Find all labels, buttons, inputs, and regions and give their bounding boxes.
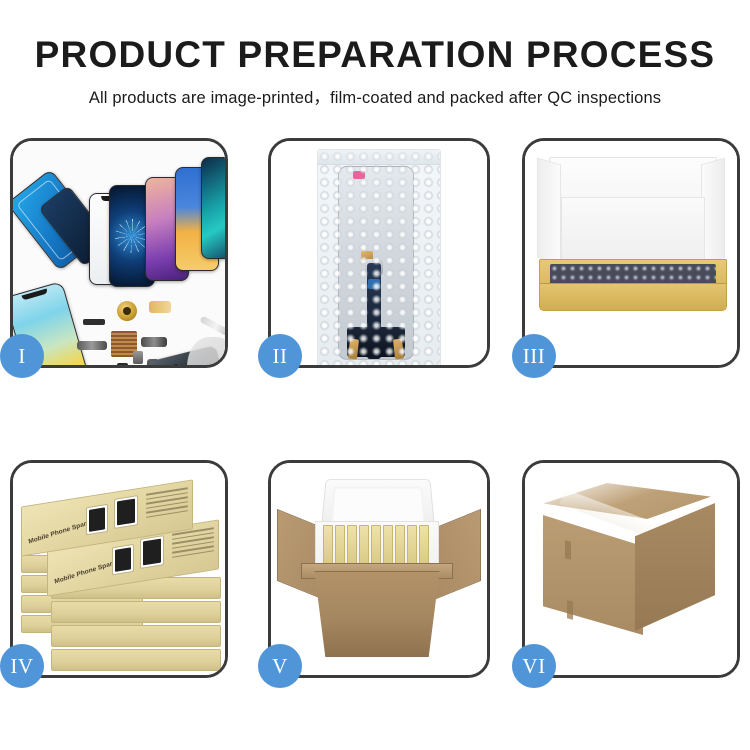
step-badge-4: IV [0, 644, 44, 688]
carton-seam [567, 600, 573, 619]
yellow-tray-box-icon [539, 259, 727, 311]
yellow-box-item [359, 525, 369, 567]
sealed-carton-icon [539, 483, 719, 647]
process-step-grid: I [10, 138, 740, 680]
yellow-box-item [383, 525, 393, 567]
box-screen-image [112, 544, 134, 575]
notch-icon [22, 289, 48, 301]
stacked-box-slab [51, 625, 221, 647]
white-lid-left-flap-icon [537, 158, 561, 265]
step-badge-1: I [0, 334, 44, 378]
yellow-box-item [407, 525, 417, 567]
gold-contact-icon [393, 339, 404, 360]
step-badge-2: II [258, 334, 302, 378]
step-badge-6: VI [512, 644, 556, 688]
process-step-6: VI [522, 460, 740, 678]
yellow-box-item [347, 525, 357, 567]
yellow-box-item [335, 525, 345, 567]
box-screen-image [114, 495, 138, 529]
yellow-box-item [395, 525, 405, 567]
carton-body-icon [309, 571, 445, 657]
yellow-boxes-inside [323, 525, 429, 567]
copper-coil-part-icon [117, 301, 137, 321]
step-badge-3: III [512, 334, 556, 378]
page-title: PRODUCT PREPARATION PROCESS [0, 0, 750, 75]
step-2-image [271, 141, 487, 365]
process-step-4: Mobile Phone Spare Parts [10, 460, 228, 678]
box-screen-image [86, 504, 108, 535]
stacked-box-slab [51, 601, 221, 623]
carton-seam [565, 540, 571, 559]
box-screen-image [140, 535, 164, 569]
process-step-3: III [522, 138, 740, 368]
yellow-box-item [323, 525, 333, 567]
stacked-box-slab [51, 649, 221, 671]
flex-cable-icon [141, 337, 167, 347]
carton-front-face [543, 515, 643, 635]
lcd-screen-icon [338, 166, 414, 360]
step-4-image: Mobile Phone Spare Parts [13, 463, 225, 675]
step-3-image [525, 141, 737, 365]
step-badge-5: V [258, 644, 302, 688]
process-step-2: II [268, 138, 490, 368]
page-subtitle: All products are image-printed，film-coat… [0, 75, 750, 108]
header: PRODUCT PREPARATION PROCESS All products… [0, 0, 750, 108]
product-preparation-infographic: PRODUCT PREPARATION PROCESS All products… [0, 0, 750, 750]
yellow-box-item [371, 525, 381, 567]
gold-flex-cable-icon [149, 301, 171, 313]
speaker-part-icon [83, 319, 105, 325]
process-step-1: I [10, 138, 228, 368]
step-5-image [271, 463, 487, 675]
step-1-image [13, 141, 225, 365]
pink-label-icon [353, 171, 365, 179]
step-6-image [525, 463, 737, 675]
screen-glass-icon [117, 499, 135, 526]
process-step-5: V [268, 460, 490, 678]
driver-ic-icon [368, 279, 380, 289]
tray-front-panel-icon [540, 283, 726, 310]
yellow-box-item [419, 525, 429, 567]
phone-screen-teal-icon [201, 157, 225, 259]
screen-glass-icon [143, 539, 161, 566]
foam-liner-icon [561, 197, 705, 263]
screen-glass-icon [115, 547, 131, 572]
screen-glass-icon [89, 507, 105, 532]
small-chip-icon [117, 363, 128, 365]
flex-cable-icon [77, 341, 107, 350]
box-stack: Mobile Phone Spare Parts [21, 481, 221, 671]
battery-part-icon [133, 351, 143, 364]
bubble-wrap-bag-icon [317, 149, 441, 365]
